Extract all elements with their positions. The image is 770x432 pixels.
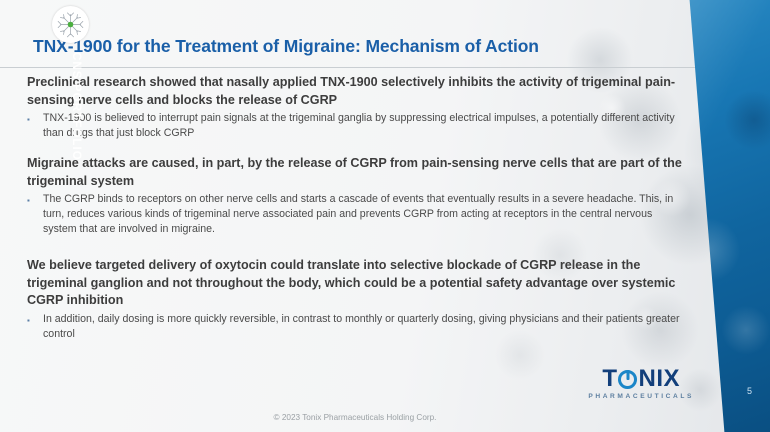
bullet-text: TNX-1900 is believed to interrupt pain s…: [43, 111, 687, 141]
tonix-logo: T NIX PHARMACEUTICALS: [588, 367, 694, 401]
bullet-marker-icon: ▪: [27, 192, 43, 205]
bullet-text: In addition, daily dosing is more quickl…: [43, 312, 687, 342]
content-block: Migraine attacks are caused, in part, by…: [27, 155, 687, 237]
content-block: Preclinical research showed that nasally…: [27, 74, 687, 141]
bullet-item: ▪ TNX-1900 is believed to interrupt pain…: [27, 111, 687, 141]
logo-letters-nix: NIX: [638, 367, 680, 391]
block-heading: We believe targeted delivery of oxytocin…: [27, 257, 687, 310]
page-number: 5: [747, 386, 752, 396]
bullet-item: ▪ The CGRP binds to receptors on other n…: [27, 192, 687, 237]
logo-subtitle: PHARMACEUTICALS: [588, 394, 694, 401]
title-divider: [0, 67, 706, 68]
content-block: We believe targeted delivery of oxytocin…: [27, 257, 687, 342]
power-symbol-icon: [618, 370, 637, 389]
block-heading: Preclinical research showed that nasally…: [27, 74, 687, 109]
logo-wordmark: T NIX: [588, 367, 694, 391]
logo-letter-t: T: [602, 367, 617, 391]
block-heading: Migraine attacks are caused, in part, by…: [27, 155, 687, 190]
page-title: TNX-1900 for the Treatment of Migraine: …: [33, 36, 539, 57]
neuron-icon: [52, 6, 89, 43]
bullet-marker-icon: ▪: [27, 312, 43, 325]
cns-portfolio-label: CNS PORTFOLIO: [58, 52, 82, 161]
slide-canvas: TNX-1900 for the Treatment of Migraine: …: [0, 0, 770, 432]
bullet-marker-icon: ▪: [27, 111, 43, 124]
bullet-text: The CGRP binds to receptors on other ner…: [43, 192, 687, 237]
footer-copyright: © 2023 Tonix Pharmaceuticals Holding Cor…: [0, 413, 770, 422]
bullet-item: ▪ In addition, daily dosing is more quic…: [27, 312, 687, 342]
content-body: Preclinical research showed that nasally…: [27, 74, 687, 354]
